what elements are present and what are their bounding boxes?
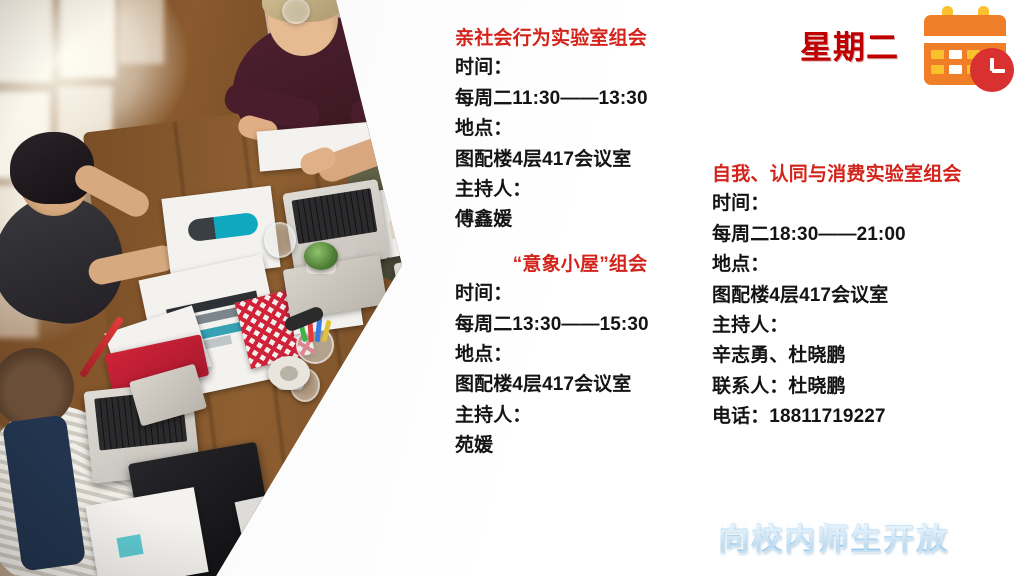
clock-hand-minute [992,69,1005,73]
group-row: 每周二11:30——13:30 [455,84,705,114]
group-row: 苑媛 [455,431,705,461]
group-row: 主持人： [455,175,705,205]
slide-canvas: 星期二 亲社会行为实验室组会 时间： 每周二11:30——13: [0,0,1024,576]
group-title: 自我、认同与消费实验室组会 [712,160,1012,189]
group-title: 亲社会行为实验室组会 [455,24,705,53]
group-row: 地点： [455,114,705,144]
group-row: 主持人： [455,401,705,431]
group-row: 地点： [455,340,705,370]
calendar-cell [949,50,962,59]
group-block: “意象小屋”组会 时间： 每周二13:30——15:30 地点： 图配楼4层41… [455,250,705,462]
group-row: 图配楼4层417会议室 [455,370,705,400]
group-block: 亲社会行为实验室组会 时间： 每周二11:30——13:30 地点： 图配楼4层… [455,24,705,236]
calendar-cell [931,65,944,74]
slide-content: 星期二 亲社会行为实验室组会 时间： 每周二11:30——13: [0,0,1024,576]
group-row: 图配楼4层417会议室 [455,145,705,175]
group-row: 每周二18:30——21:00 [712,220,1012,250]
calendar-band [924,36,1006,43]
group-row: 辛志勇、杜晓鹏 [712,341,1012,371]
weekday-label: 星期二 [800,22,899,68]
left-schedule-column: 亲社会行为实验室组会 时间： 每周二11:30——13:30 地点： 图配楼4层… [455,24,705,462]
clock-badge [970,48,1014,92]
calendar-cell [949,65,962,74]
open-notice: 向校内师生开放 [718,514,949,559]
group-row: 傅鑫媛 [455,205,705,235]
group-title: “意象小屋”组会 [455,250,705,279]
group-row: 时间： [455,53,705,83]
group-row: 图配楼4层417会议室 [712,281,1012,311]
group-row: 时间： [712,189,1012,219]
section-spacer [455,236,705,250]
group-block: 自我、认同与消费实验室组会 时间： 每周二18:30——21:00 地点： 图配… [712,160,1012,433]
group-row: 地点： [712,250,1012,280]
group-row: 电话：18811719227 [712,402,1012,432]
calendar-clock-icon [920,6,1016,94]
group-row: 每周二13:30——15:30 [455,310,705,340]
calendar-cell [931,50,944,59]
group-row: 时间： [455,279,705,309]
group-row: 联系人：杜晓鹏 [712,372,1012,402]
right-schedule-column: 自我、认同与消费实验室组会 时间： 每周二18:30——21:00 地点： 图配… [712,160,1012,433]
group-row: 主持人： [712,311,1012,341]
